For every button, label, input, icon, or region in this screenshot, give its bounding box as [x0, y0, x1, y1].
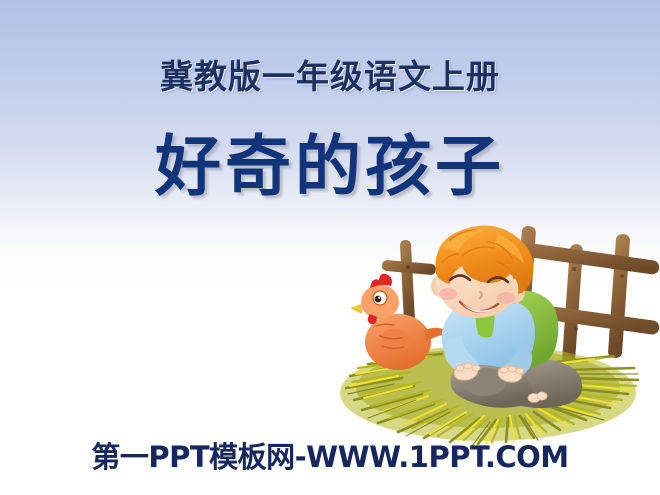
slide-canvas: 冀教版一年级语文上册 好奇的孩子 — [0, 0, 660, 495]
slide-subtitle: 冀教版一年级语文上册 — [0, 50, 660, 98]
page-title: 好奇的孩子 — [0, 133, 660, 199]
footer-watermark: 第一PPT模板网-WWW.1PPT.COM — [0, 434, 660, 476]
boy-with-chicken-on-hay-illustration — [338, 218, 660, 453]
